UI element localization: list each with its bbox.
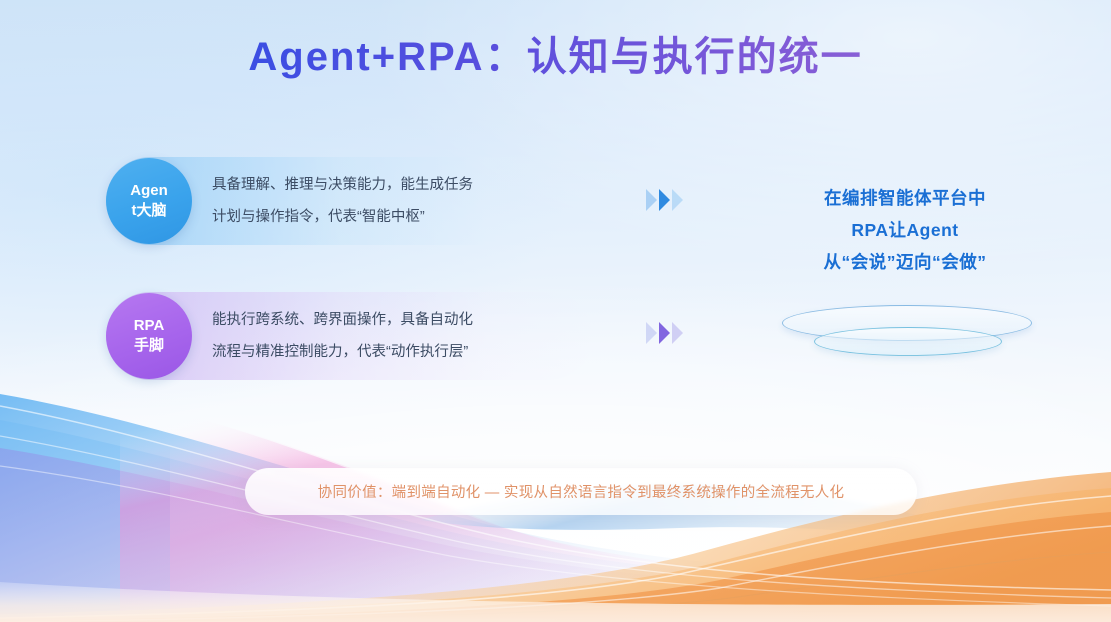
chevron-right-icon	[659, 322, 670, 344]
chevron-right-icon	[646, 189, 657, 211]
badge-rpa: RPA 手脚	[106, 293, 192, 379]
conclusion-line-1: 在编排智能体平台中	[760, 182, 1050, 214]
chevron-right-icon	[659, 189, 670, 211]
bottom-banner[interactable]: 协同价值：端到端自动化 — 实现从自然语言指令到最终系统操作的全流程无人化	[245, 468, 917, 515]
badge-rpa-line1: RPA	[134, 316, 165, 336]
card-rpa-description: 能执行跨系统、跨界面操作，具备自动化 流程与精准控制能力，代表“动作执行层”	[212, 304, 473, 368]
badge-rpa-line2: 手脚	[134, 336, 164, 356]
badge-agent-line1: Agen	[130, 181, 168, 201]
platform-disc-lower	[814, 327, 1002, 356]
arrow-agent-to-result	[646, 189, 683, 211]
arrow-rpa-to-result	[646, 322, 683, 344]
conclusion-line-3: 从“会说”迈向“会做”	[760, 246, 1050, 278]
card-agent-description: 具备理解、推理与决策能力，能生成任务 计划与操作指令，代表“智能中枢”	[212, 169, 473, 233]
bottom-banner-text: 协同价值：端到端自动化 — 实现从自然语言指令到最终系统操作的全流程无人化	[318, 481, 845, 502]
conclusion-line-2: RPA让Agent	[760, 214, 1050, 246]
chevron-right-icon	[672, 189, 683, 211]
chevron-right-icon	[672, 322, 683, 344]
card-rpa-hands-feet[interactable]: RPA 手脚 能执行跨系统、跨界面操作，具备自动化 流程与精准控制能力，代表“动…	[106, 292, 593, 380]
card-rpa-line2: 流程与精准控制能力，代表“动作执行层”	[212, 336, 473, 368]
card-agent-brain[interactable]: Agen t大脑 具备理解、推理与决策能力，能生成任务 计划与操作指令，代表“智…	[106, 157, 593, 245]
platform-disc-icon	[782, 305, 1032, 367]
slide-canvas: Agent+RPA：认知与执行的统一 Agen t大脑 具备理解、推理与决策能力…	[0, 0, 1111, 622]
page-title: Agent+RPA：认知与执行的统一	[0, 24, 1111, 82]
chevron-right-icon	[646, 322, 657, 344]
card-rpa-line1: 能执行跨系统、跨界面操作，具备自动化	[212, 304, 473, 336]
card-agent-line2: 计划与操作指令，代表“智能中枢”	[212, 201, 473, 233]
card-agent-line1: 具备理解、推理与决策能力，能生成任务	[212, 169, 473, 201]
badge-agent-brain: Agen t大脑	[106, 158, 192, 244]
conclusion-block: 在编排智能体平台中 RPA让Agent 从“会说”迈向“会做”	[760, 182, 1050, 278]
badge-agent-line2: t大脑	[132, 201, 167, 221]
